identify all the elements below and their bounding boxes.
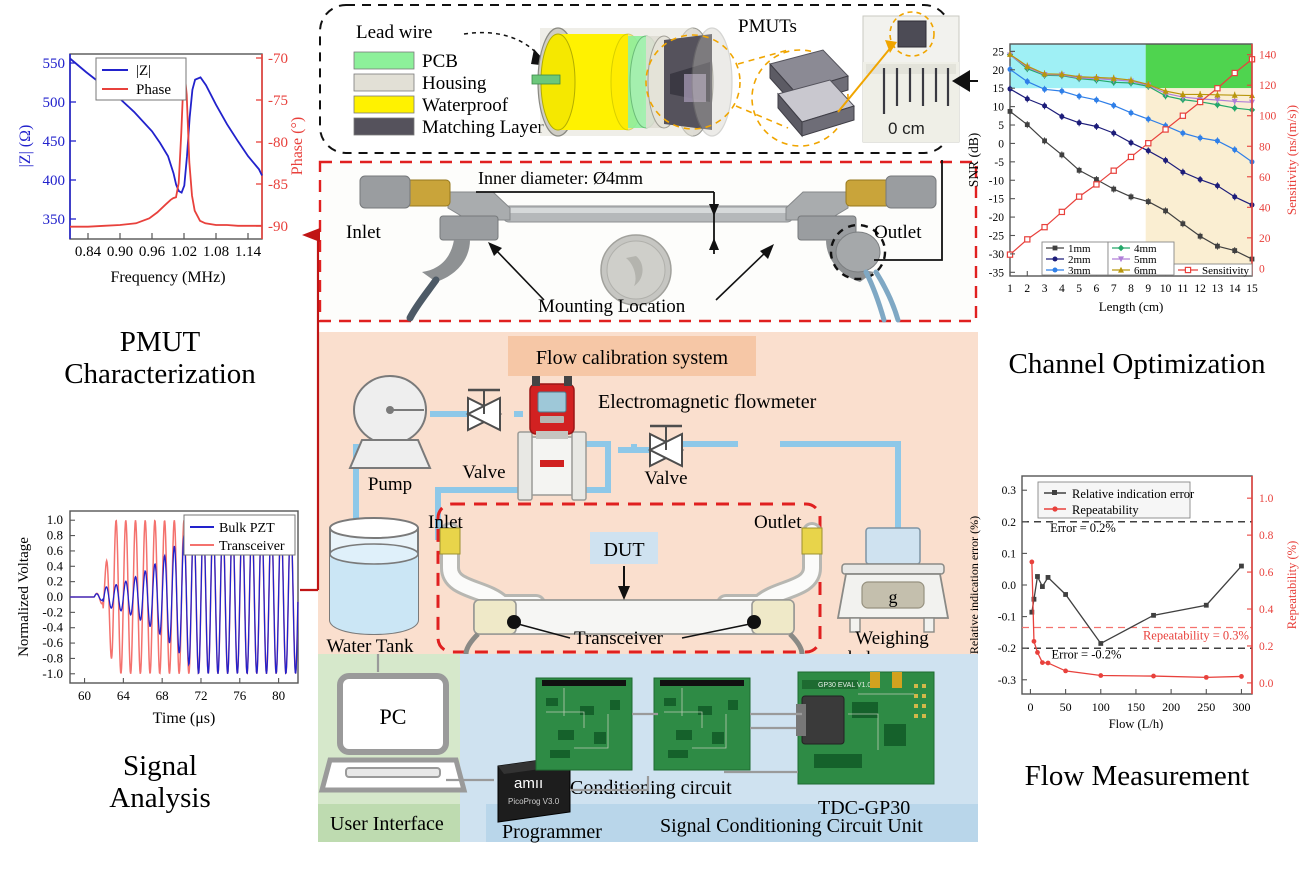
svg-text:-85: -85 [268, 177, 288, 193]
pc-label: PC [380, 704, 407, 729]
impedance-chart-svg: 550 500 450 400 350 -70-75 -80-85 -90 [8, 40, 314, 302]
svg-text:-30: -30 [989, 249, 1005, 261]
svg-text:-90: -90 [268, 219, 288, 235]
flow-calibration-panel: Flow calibration system Pump [318, 332, 978, 654]
svg-text:60: 60 [78, 688, 91, 703]
waveform-yaxis-title: Normalized Voltage [16, 537, 32, 657]
lead-wire-label: Lead wire [356, 22, 432, 43]
calib-inlet-label: Inlet [428, 512, 464, 533]
svg-text:-0.8: -0.8 [42, 650, 63, 665]
svg-text:-80: -80 [268, 135, 288, 151]
svg-text:1.0: 1.0 [47, 512, 63, 527]
svg-text:500: 500 [43, 95, 66, 111]
svg-text:0.1: 0.1 [1002, 548, 1017, 560]
impedance-legend: |Z| Phase [96, 58, 186, 100]
svg-text:20: 20 [1259, 233, 1271, 245]
svg-text:7: 7 [1111, 283, 1117, 295]
svg-text:60: 60 [1259, 172, 1271, 184]
signal-conditioning-unit-label: Signal Conditioning Circuit Unit [660, 815, 923, 837]
svg-text:200: 200 [1162, 700, 1180, 714]
waveform-xaxis-title: Time (μs) [153, 710, 216, 727]
svg-text:10: 10 [993, 102, 1005, 114]
legend-Sensitivity: Sensitivity [1202, 265, 1250, 277]
waveform-chart-panel: 1.00.80.60.40.20.0-0.2-0.4-0.6-0.8-1.0 6… [8, 495, 314, 735]
svg-text:450: 450 [43, 134, 66, 150]
svg-text:-75: -75 [268, 93, 288, 109]
flow-title-text: Flow Measurement [1025, 760, 1250, 792]
impedance-chart-panel: 550 500 450 400 350 -70-75 -80-85 -90 [8, 40, 314, 302]
svg-text:120: 120 [1259, 80, 1277, 92]
svg-text:0.6: 0.6 [47, 543, 64, 558]
svg-text:11: 11 [1177, 283, 1188, 295]
programmer-label: Programmer [502, 821, 602, 843]
svg-text:15: 15 [1246, 283, 1258, 295]
svg-text:-0.1: -0.1 [998, 612, 1016, 624]
calib-outlet-label: Outlet [754, 512, 802, 533]
svg-text:0.0: 0.0 [1002, 580, 1017, 592]
programmer-brand: amıı [514, 775, 543, 792]
svg-text:0.0: 0.0 [47, 589, 63, 604]
flowmeter-label: Electromagnetic flowmeter [598, 391, 817, 413]
legend-waterproof: Waterproof [422, 95, 509, 116]
channel-optimization-title: Channel Optimization [966, 348, 1308, 380]
svg-text:-15: -15 [989, 194, 1005, 206]
svg-text:-5: -5 [994, 157, 1004, 169]
flow-xaxis-title: Flow (L/h) [1109, 717, 1164, 731]
svg-text:2: 2 [1024, 283, 1030, 295]
svg-text:0: 0 [998, 138, 1004, 150]
pipe-photo-panel: Inner diameter: Ø4mm Inlet Outlet Mounti… [318, 160, 978, 325]
svg-text:13: 13 [1212, 283, 1224, 295]
svg-text:0.8: 0.8 [1259, 530, 1274, 542]
svg-text:5: 5 [998, 120, 1004, 132]
legend-label-bulkpzt: Bulk PZT [219, 521, 275, 536]
legend-housing: Housing [422, 73, 487, 94]
svg-text:8: 8 [1128, 283, 1134, 295]
user-interface-label: User Interface [330, 813, 444, 835]
dut-label: DUT [603, 539, 644, 561]
svg-text:6: 6 [1094, 283, 1100, 295]
annotation-1: Error = -0.2% [1052, 647, 1122, 661]
svg-text:0.2: 0.2 [1002, 517, 1017, 529]
tdc-gp30-board: GP30 EVAL V1.0 [796, 672, 934, 784]
svg-text:76: 76 [233, 688, 247, 703]
pipe-outlet-label: Outlet [874, 222, 922, 243]
flow-yaxis-right-title: Repeatability (%) [1285, 541, 1299, 630]
signal-title-line1: Signal [10, 750, 310, 782]
channel-xaxis-title: Length (cm) [1099, 299, 1164, 314]
svg-text:1.0: 1.0 [1259, 493, 1274, 505]
svg-text:-1.0: -1.0 [42, 666, 63, 681]
svg-text:1: 1 [1007, 283, 1013, 295]
flow-measurement-title: Flow Measurement [966, 760, 1308, 792]
legend-label-transceiver: Transceiver [219, 539, 285, 554]
annotation-0: Error = 0.2% [1050, 521, 1116, 535]
pmut-title-line1: PMUT [10, 326, 310, 358]
valve-2[interactable]: Valve [644, 426, 687, 489]
annotation-2: Repeatability = 0.3% [1143, 628, 1249, 642]
legend-label-z: |Z| [136, 63, 151, 79]
flow-legend: Relative indication error Repeatability [1038, 482, 1195, 518]
channel-title-text: Channel Optimization [1009, 348, 1266, 380]
svg-text:100: 100 [1259, 111, 1277, 123]
svg-text:0.84: 0.84 [75, 244, 102, 260]
legend-pcb: PCB [422, 51, 458, 72]
svg-text:100: 100 [1092, 700, 1110, 714]
waveform-legend: Bulk PZT Transceiver [184, 515, 295, 555]
svg-text:-0.4: -0.4 [42, 620, 63, 635]
mounting-location-label: Mounting Location [538, 296, 686, 317]
valve-2-label: Valve [644, 468, 687, 489]
svg-text:0.4: 0.4 [1259, 604, 1274, 616]
svg-text:-0.2: -0.2 [998, 643, 1016, 655]
svg-text:80: 80 [272, 688, 285, 703]
svg-text:0.3: 0.3 [1002, 485, 1017, 497]
svg-text:40: 40 [1259, 202, 1271, 214]
svg-text:64: 64 [117, 688, 131, 703]
svg-text:0.4: 0.4 [47, 558, 64, 573]
svg-text:-0.3: -0.3 [998, 675, 1016, 687]
svg-text:1.02: 1.02 [171, 244, 197, 260]
pump-label: Pump [368, 474, 412, 495]
svg-text:0.8: 0.8 [47, 528, 63, 543]
svg-text:0.0: 0.0 [1259, 678, 1274, 690]
pmut-characterization-title: PMUT Characterization [10, 326, 310, 391]
programmer-model: PicoProg V3.0 [508, 797, 560, 806]
svg-text:-25: -25 [989, 230, 1005, 242]
transceiver-label: Transceiver [574, 628, 664, 649]
svg-text:250: 250 [1197, 700, 1215, 714]
svg-text:-0.6: -0.6 [42, 635, 63, 650]
pc-laptop: PC [322, 676, 464, 790]
svg-text:12: 12 [1194, 283, 1206, 295]
svg-text:0.2: 0.2 [47, 574, 63, 589]
waveform-chart-svg: 1.00.80.60.40.20.0-0.2-0.4-0.6-0.8-1.0 6… [8, 495, 314, 735]
svg-text:150: 150 [1127, 700, 1145, 714]
svg-text:0.96: 0.96 [139, 244, 166, 260]
pipe-inlet-label: Inlet [346, 222, 382, 243]
legend-label-phase: Phase [136, 82, 171, 98]
connector-arrows [300, 150, 326, 600]
pmut-title-line2: Characterization [10, 358, 310, 390]
svg-text:0: 0 [1027, 700, 1033, 714]
svg-text:1.08: 1.08 [203, 244, 229, 260]
svg-text:68: 68 [156, 688, 169, 703]
legend-6mm: 6mm [1134, 265, 1157, 277]
svg-text:14: 14 [1229, 283, 1241, 295]
weighing-label-line1: Weighing [855, 628, 929, 649]
valve-1-label: Valve [462, 462, 505, 483]
conditioning-circuit-label: Conditioning circuit [570, 777, 732, 799]
conditioning-circuit-board-1 [536, 678, 632, 770]
flow-calibration-title: Flow calibration system [536, 347, 729, 369]
svg-text:50: 50 [1060, 700, 1072, 714]
svg-text:0.2: 0.2 [1259, 641, 1274, 653]
electronics-panel: PC User Interface amıı PicoProg V3.0 Pro… [318, 654, 978, 854]
cyan-band [1010, 44, 1146, 88]
svg-text:-0.2: -0.2 [42, 604, 63, 619]
svg-text:0.6: 0.6 [1259, 567, 1274, 579]
svg-text:3: 3 [1042, 283, 1048, 295]
svg-text:-35: -35 [989, 267, 1005, 279]
svg-text:300: 300 [1232, 700, 1250, 714]
tdc-board-text: GP30 EVAL V1.0 [818, 682, 871, 689]
svg-text:9: 9 [1145, 283, 1151, 295]
signal-title-line2: Analysis [10, 782, 310, 814]
conditioning-circuit-board-2 [654, 678, 750, 770]
svg-text:550: 550 [43, 56, 66, 72]
channel-yaxis-right-title: Sensitivity (ns/(m/s)) [1284, 105, 1299, 215]
flow-legend-repeatability: Repeatability [1072, 503, 1139, 517]
signal-analysis-title: Signal Analysis [10, 750, 310, 815]
svg-text:0: 0 [1259, 263, 1265, 275]
svg-text:-70: -70 [268, 51, 288, 67]
svg-text:140: 140 [1259, 50, 1277, 62]
legend-matching-layer: Matching Layer [422, 117, 545, 138]
green-band [1146, 44, 1252, 88]
legend-3mm: 3mm [1068, 265, 1091, 277]
svg-text:1.14: 1.14 [235, 244, 262, 260]
svg-text:10: 10 [1160, 283, 1172, 295]
water-tank-label: Water Tank [326, 636, 414, 654]
balance-unit-label: g [889, 587, 898, 607]
impedance-yaxis-left-title: |Z| (Ω) [17, 125, 34, 168]
flow-yaxis-left-title: Relative indication error (%) [967, 516, 981, 654]
svg-text:0.90: 0.90 [107, 244, 133, 260]
svg-text:25: 25 [993, 46, 1005, 58]
channel-yaxis-left-title: SNR (dB) [966, 133, 981, 187]
svg-text:-20: -20 [989, 212, 1005, 224]
svg-text:20: 20 [993, 65, 1005, 77]
channel-optimization-panel: 2520151050-5-10-15-20-25-30-351401201008… [966, 34, 1308, 324]
flow-measurement-panel: 0.30.20.10.0-0.1-0.2-0.31.00.80.60.40.20… [966, 462, 1308, 742]
svg-text:72: 72 [194, 688, 207, 703]
svg-text:350: 350 [43, 212, 66, 228]
svg-text:400: 400 [43, 173, 66, 189]
svg-text:-10: -10 [989, 175, 1005, 187]
scale-label: 0 cm [888, 119, 925, 138]
transducer-schematic-panel: Lead wire PCB Housing Waterproof Matchin… [318, 2, 978, 164]
inner-diameter-label: Inner diameter: Ø4mm [478, 168, 643, 188]
svg-text:80: 80 [1259, 141, 1271, 153]
svg-text:15: 15 [993, 83, 1005, 95]
impedance-xaxis-title: Frequency (MHz) [110, 269, 225, 286]
pmuts-label: PMUTs [738, 16, 797, 37]
svg-text:5: 5 [1076, 283, 1082, 295]
flow-legend-error: Relative indication error [1072, 487, 1195, 501]
svg-text:4: 4 [1059, 283, 1065, 295]
